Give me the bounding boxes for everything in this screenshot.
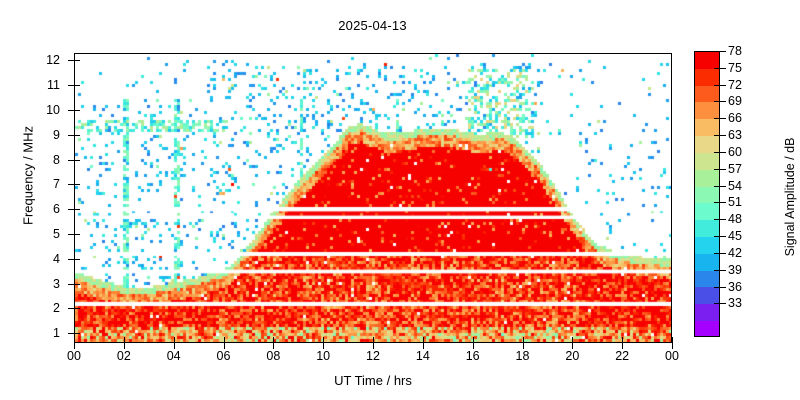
colorbar-band <box>695 136 719 153</box>
colorbar-tick-mark <box>720 270 726 271</box>
y-tick-mark-inner <box>74 259 80 260</box>
spectrogram-heatmap[interactable] <box>75 54 672 343</box>
y-tick-mark-inner <box>74 135 80 136</box>
x-tick-mark-inner <box>622 337 623 343</box>
colorbar-band <box>695 170 719 187</box>
y-tick-mark-inner <box>74 110 80 111</box>
colorbar-tick-mark <box>720 253 726 254</box>
x-tick-label: 10 <box>303 349 343 363</box>
colorbar-band <box>695 52 719 69</box>
colorbar-tick-mark <box>720 68 726 69</box>
colorbar-tick-mark-inner <box>714 287 720 288</box>
x-tick-mark-inner <box>473 337 474 343</box>
y-tick-mark-inner <box>74 284 80 285</box>
x-tick-mark-inner <box>672 337 673 343</box>
colorbar-tick-label: 33 <box>728 297 754 309</box>
y-tick-mark-inner <box>74 160 80 161</box>
x-tick-label: 04 <box>154 349 194 363</box>
colorbar-tick-label: 45 <box>728 230 754 242</box>
x-tick-mark-inner <box>74 337 75 343</box>
x-tick-label: 08 <box>253 349 293 363</box>
colorbar-tick-label: 36 <box>728 281 754 293</box>
y-tick-label: 1 <box>14 327 60 339</box>
colorbar-tick-mark-inner <box>714 169 720 170</box>
colorbar-tick-mark-inner <box>714 202 720 203</box>
colorbar-tick-mark-inner <box>714 186 720 187</box>
colorbar-tick-mark-inner <box>714 219 720 220</box>
y-axis-label: Frequency / MHz <box>21 66 36 286</box>
y-tick-mark-inner <box>74 333 80 334</box>
colorbar-tick-label: 54 <box>728 180 754 192</box>
colorbar-band <box>695 86 719 103</box>
x-tick-label: 06 <box>204 349 244 363</box>
colorbar-tick-label: 42 <box>728 247 754 259</box>
colorbar-tick-mark <box>720 186 726 187</box>
colorbar-tick-mark-inner <box>714 135 720 136</box>
colorbar-band <box>695 220 719 237</box>
figure-title: 2025-04-13 <box>0 18 745 33</box>
colorbar-tick-mark-inner <box>714 270 720 271</box>
x-tick-mark-inner <box>124 337 125 343</box>
colorbar-tick-mark <box>720 219 726 220</box>
colorbar-label: Signal Amplitude / dB <box>783 87 797 307</box>
colorbar-tick-mark-inner <box>714 152 720 153</box>
x-tick-label: 20 <box>552 349 592 363</box>
colorbar-tick-mark <box>720 287 726 288</box>
colorbar-tick-mark-inner <box>714 85 720 86</box>
colorbar-band <box>695 102 719 119</box>
colorbar-band <box>695 254 719 271</box>
colorbar-tick-label: 78 <box>728 45 754 57</box>
colorbar-tick-mark <box>720 135 726 136</box>
colorbar-tick-mark <box>720 169 726 170</box>
x-tick-label: 16 <box>453 349 493 363</box>
colorbar-tick-mark <box>720 303 726 304</box>
colorbar-tick-mark-inner <box>714 118 720 119</box>
x-axis-label: UT Time / hrs <box>74 373 672 388</box>
colorbar-band <box>695 203 719 220</box>
y-tick-label: 2 <box>14 302 60 314</box>
colorbar-tick-mark-inner <box>714 101 720 102</box>
y-tick-mark-inner <box>74 85 80 86</box>
colorbar-tick-label: 72 <box>728 79 754 91</box>
x-tick-mark-inner <box>224 337 225 343</box>
x-tick-label: 14 <box>403 349 443 363</box>
colorbar-band <box>695 187 719 204</box>
x-tick-mark-inner <box>174 337 175 343</box>
x-tick-mark-inner <box>323 337 324 343</box>
colorbar-tick-label: 51 <box>728 196 754 208</box>
y-tick-mark-inner <box>74 209 80 210</box>
colorbar-band <box>695 304 719 321</box>
x-tick-label: 18 <box>503 349 543 363</box>
x-tick-mark-inner <box>273 337 274 343</box>
colorbar-tick-mark-inner <box>714 253 720 254</box>
colorbar-band <box>695 69 719 86</box>
colorbar-tick-mark <box>720 118 726 119</box>
y-tick-mark-inner <box>74 308 80 309</box>
colorbar-tick-label: 60 <box>728 146 754 158</box>
y-tick-mark-inner <box>74 60 80 61</box>
x-tick-mark-inner <box>572 337 573 343</box>
colorbar-tick-mark <box>720 152 726 153</box>
colorbar-band <box>695 271 719 288</box>
colorbar-band <box>695 287 719 304</box>
colorbar-tick-mark <box>720 85 726 86</box>
colorbar-tick-mark <box>720 101 726 102</box>
x-tick-label: 00 <box>652 349 692 363</box>
colorbar-band <box>695 119 719 136</box>
spectrogram-figure: 2025-04-13 123456789101112 0002040608101… <box>0 0 800 400</box>
colorbar-band <box>695 321 719 337</box>
colorbar-tick-mark-inner <box>714 51 720 52</box>
colorbar-tick-mark-inner <box>714 236 720 237</box>
x-tick-label: 02 <box>104 349 144 363</box>
x-tick-mark-inner <box>373 337 374 343</box>
colorbar-tick-mark-inner <box>714 68 720 69</box>
x-tick-label: 12 <box>353 349 393 363</box>
colorbar-band <box>695 237 719 254</box>
colorbar-tick-label: 48 <box>728 213 754 225</box>
x-tick-label: 00 <box>54 349 94 363</box>
colorbar[interactable] <box>694 51 720 337</box>
colorbar-tick-label: 63 <box>728 129 754 141</box>
colorbar-tick-label: 66 <box>728 112 754 124</box>
colorbar-tick-label: 39 <box>728 264 754 276</box>
y-tick-mark-inner <box>74 184 80 185</box>
colorbar-tick-label: 75 <box>728 62 754 74</box>
x-tick-mark-inner <box>523 337 524 343</box>
y-tick-mark-inner <box>74 234 80 235</box>
colorbar-band <box>695 153 719 170</box>
colorbar-tick-mark <box>720 236 726 237</box>
colorbar-tick-label: 57 <box>728 163 754 175</box>
colorbar-tick-label: 69 <box>728 95 754 107</box>
colorbar-tick-mark <box>720 202 726 203</box>
x-tick-label: 22 <box>602 349 642 363</box>
plot-area[interactable] <box>74 53 672 343</box>
colorbar-tick-mark-inner <box>714 303 720 304</box>
colorbar-tick-mark <box>720 51 726 52</box>
x-tick-mark-inner <box>423 337 424 343</box>
